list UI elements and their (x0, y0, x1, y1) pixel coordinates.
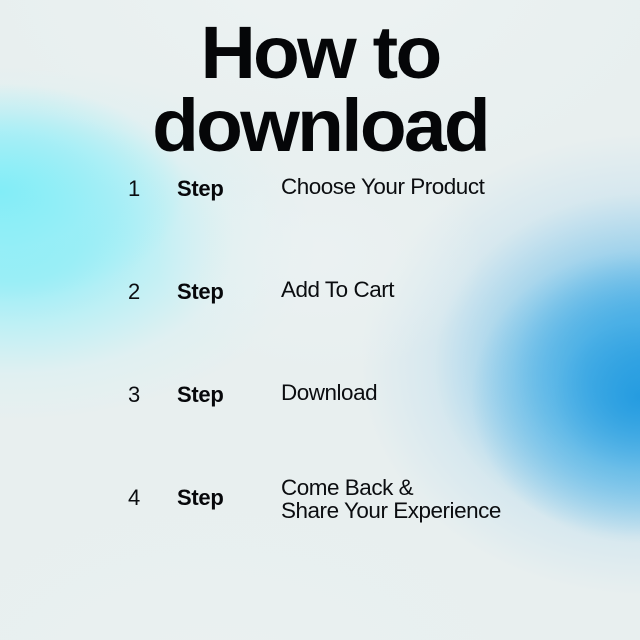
poster-content: How to download 1 Step Choose Your Produ… (0, 0, 640, 640)
page-title: How to download (0, 17, 640, 162)
step-number-3: 3 (128, 384, 162, 406)
step-description-4: Come Back & Share Your Experience (281, 477, 627, 523)
step-description-2: Add To Cart (281, 279, 627, 302)
step-description-1: Choose Your Product (281, 176, 627, 199)
step-label-2: Step (177, 281, 223, 303)
step-number-1: 1 (128, 178, 162, 200)
step-label-3: Step (177, 384, 223, 406)
step-number-2: 2 (128, 281, 162, 303)
step-description-3: Download (281, 382, 627, 405)
step-number-4: 4 (128, 487, 162, 509)
step-label-1: Step (177, 178, 223, 200)
step-item-2: 2 Step Add To Cart (0, 281, 640, 384)
step-label-4: Step (177, 487, 223, 509)
step-item-1: 1 Step Choose Your Product (0, 178, 640, 281)
step-item-3: 3 Step Download (0, 384, 640, 487)
poster-canvas: How to download 1 Step Choose Your Produ… (0, 0, 640, 640)
steps-list: 1 Step Choose Your Product 2 Step Add To… (0, 178, 640, 487)
